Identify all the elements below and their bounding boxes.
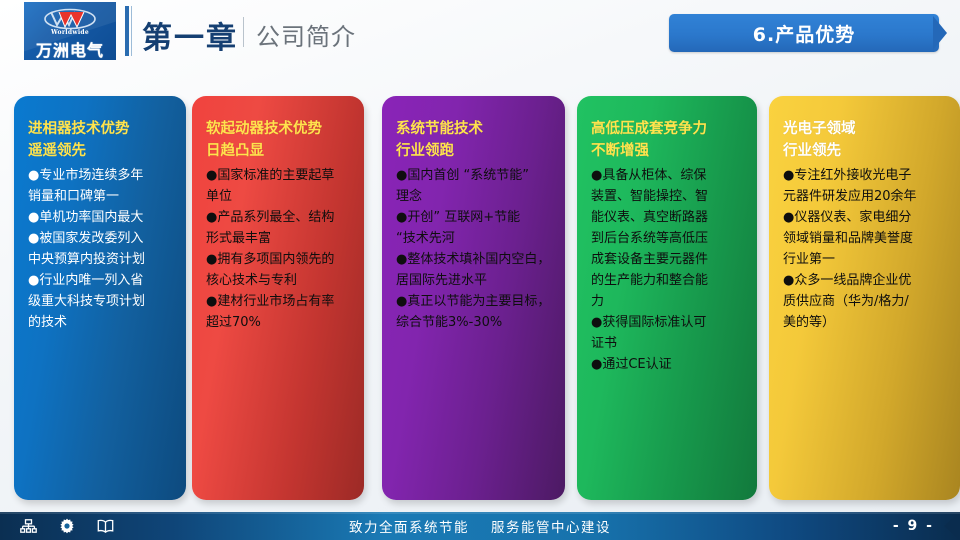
card-3-line: ●整体技术填补国内空白， xyxy=(396,249,553,270)
card-5-body: ●专注红外接收光电子 元器件研发应用20余年 ●仪器仪表、家电细分 领域销量和品… xyxy=(783,165,948,333)
card-2-line: ●拥有多项国内领先的 xyxy=(206,249,352,270)
slide-header: Worldwide 万洲电气 第一章 公司简介 6.产品优势 xyxy=(0,0,960,72)
card-1-line: 的技术 xyxy=(28,312,174,333)
card-4-line: 装置、智能操控、智 xyxy=(591,186,745,207)
card-2-line: ●建材行业市场占有率 xyxy=(206,291,352,312)
card-4-line: 的生产能力和整合能 xyxy=(591,270,745,291)
card-3-title: 系统节能技术 行业领跑 xyxy=(396,118,553,163)
section-badge-label: 6.产品优势 xyxy=(753,20,855,47)
card-4-title-line1: 高低压成套竞争力 xyxy=(591,118,745,140)
card-1-line: ●单机功率国内最大 xyxy=(28,207,174,228)
logo-sub-text: Worldwide xyxy=(24,29,116,36)
advantage-card-1[interactable]: 进相器技术优势 遥遥领先 ●专业市场连续多年 销量和口碑第一 ●单机功率国内最大… xyxy=(14,96,186,500)
card-2-title-line1: 软起动器技术优势 xyxy=(206,118,352,140)
card-4-line: ●获得国际标准认可 xyxy=(591,312,745,333)
card-3-line: 居国际先进水平 xyxy=(396,270,553,291)
card-1-title-line1: 进相器技术优势 xyxy=(28,118,174,140)
card-1-line: 中央预算内投资计划 xyxy=(28,249,174,270)
card-3-title-line2: 行业领跑 xyxy=(396,140,553,162)
card-1-line: ●专业市场连续多年 xyxy=(28,165,174,186)
card-5-title: 光电子领域 行业领先 xyxy=(783,118,948,163)
advantage-card-4[interactable]: 高低压成套竞争力 不断增强 ●具备从柜体、综保 装置、智能操控、智 能仪表、真空… xyxy=(577,96,757,500)
header-accent-bar xyxy=(125,6,129,56)
card-5-line: 领域销量和品牌美誉度 xyxy=(783,228,948,249)
card-2-line: 超过70% xyxy=(206,312,352,333)
advantage-cards: 进相器技术优势 遥遥领先 ●专业市场连续多年 销量和口碑第一 ●单机功率国内最大… xyxy=(0,96,960,500)
card-5-line: 行业第一 xyxy=(783,249,948,270)
card-1-title: 进相器技术优势 遥遥领先 xyxy=(28,118,174,163)
card-5-title-line1: 光电子领域 xyxy=(783,118,948,140)
card-4-line: 到后台系统等高低压 xyxy=(591,228,745,249)
w-emblem-icon xyxy=(24,7,116,31)
card-3-body: ●国内首创 “系统节能” 理念 ●开创” 互联网+节能 “技术先河 ●整体技术填… xyxy=(396,165,553,333)
card-2-title: 软起动器技术优势 日趋凸显 xyxy=(206,118,352,163)
card-3-line: “技术先河 xyxy=(396,228,553,249)
advantage-card-3[interactable]: 系统节能技术 行业领跑 ●国内首创 “系统节能” 理念 ●开创” 互联网+节能 … xyxy=(382,96,565,500)
title-separator xyxy=(243,17,244,47)
card-4-title: 高低压成套竞争力 不断增强 xyxy=(591,118,745,163)
card-5-line: ●仪器仪表、家电细分 xyxy=(783,207,948,228)
card-3-line: ●开创” 互联网+节能 xyxy=(396,207,553,228)
footer-slogan: 致力全面系统节能 服务能管中心建设 xyxy=(0,512,960,540)
card-3-title-line1: 系统节能技术 xyxy=(396,118,553,140)
card-2-line: ●国家标准的主要起草 xyxy=(206,165,352,186)
card-2-title-line2: 日趋凸显 xyxy=(206,140,352,162)
page-title: 第一章 xyxy=(142,13,238,57)
card-5-line: 美的等） xyxy=(783,312,948,333)
card-1-line: ●行业内唯一列入省 xyxy=(28,270,174,291)
card-3-line: 综合节能3%-30% xyxy=(396,312,553,333)
card-5-line: ●众多一线品牌企业优 xyxy=(783,270,948,291)
card-4-line: 能仪表、真空断路器 xyxy=(591,207,745,228)
card-1-body: ●专业市场连续多年 销量和口碑第一 ●单机功率国内最大 ●被国家发改委列入 中央… xyxy=(28,165,174,333)
card-4-line: 力 xyxy=(591,291,745,312)
footer-slogan-right: 服务能管中心建设 xyxy=(491,516,611,536)
card-2-line: 单位 xyxy=(206,186,352,207)
card-4-line: ●通过CE认证 xyxy=(591,354,745,375)
footer-arrow-icon xyxy=(944,512,960,540)
advantage-card-5[interactable]: 光电子领域 行业领先 ●专注红外接收光电子 元器件研发应用20余年 ●仪器仪表、… xyxy=(769,96,960,500)
card-5-line: ●专注红外接收光电子 xyxy=(783,165,948,186)
company-logo: Worldwide 万洲电气 xyxy=(24,2,116,60)
card-4-body: ●具备从柜体、综保 装置、智能操控、智 能仪表、真空断路器 到后台系统等高低压 … xyxy=(591,165,745,375)
card-3-line: ●真正以节能为主要目标， xyxy=(396,291,553,312)
header-accent-bar-thin xyxy=(131,6,132,56)
card-4-line: 成套设备主要元器件 xyxy=(591,249,745,270)
slide-footer: 致力全面系统节能 服务能管中心建设 - 9 - xyxy=(0,512,960,540)
card-2-body: ●国家标准的主要起草 单位 ●产品系列最全、结构 形式最丰富 ●拥有多项国内领先… xyxy=(206,165,352,333)
footer-slogan-left: 致力全面系统节能 xyxy=(349,516,469,536)
advantage-card-2[interactable]: 软起动器技术优势 日趋凸显 ●国家标准的主要起草 单位 ●产品系列最全、结构 形… xyxy=(192,96,364,500)
section-badge-arrow-icon xyxy=(933,16,947,50)
card-4-line: ●具备从柜体、综保 xyxy=(591,165,745,186)
card-1-line: 级重大科技专项计划 xyxy=(28,291,174,312)
logo-company-name: 万洲电气 xyxy=(24,37,116,60)
card-1-title-line2: 遥遥领先 xyxy=(28,140,174,162)
card-2-line: 核心技术与专利 xyxy=(206,270,352,291)
card-5-title-line2: 行业领先 xyxy=(783,140,948,162)
card-3-line: 理念 xyxy=(396,186,553,207)
page-subtitle: 公司简介 xyxy=(256,17,356,52)
card-3-line: ●国内首创 “系统节能” xyxy=(396,165,553,186)
card-5-line: 质供应商（华为/格力/ xyxy=(783,291,948,312)
card-2-line: ●产品系列最全、结构 xyxy=(206,207,352,228)
section-badge: 6.产品优势 xyxy=(669,14,939,52)
card-2-line: 形式最丰富 xyxy=(206,228,352,249)
card-1-line: 销量和口碑第一 xyxy=(28,186,174,207)
card-4-line: 证书 xyxy=(591,333,745,354)
card-1-line: ●被国家发改委列入 xyxy=(28,228,174,249)
page-number: - 9 - xyxy=(893,512,934,540)
card-4-title-line2: 不断增强 xyxy=(591,140,745,162)
card-5-line: 元器件研发应用20余年 xyxy=(783,186,948,207)
